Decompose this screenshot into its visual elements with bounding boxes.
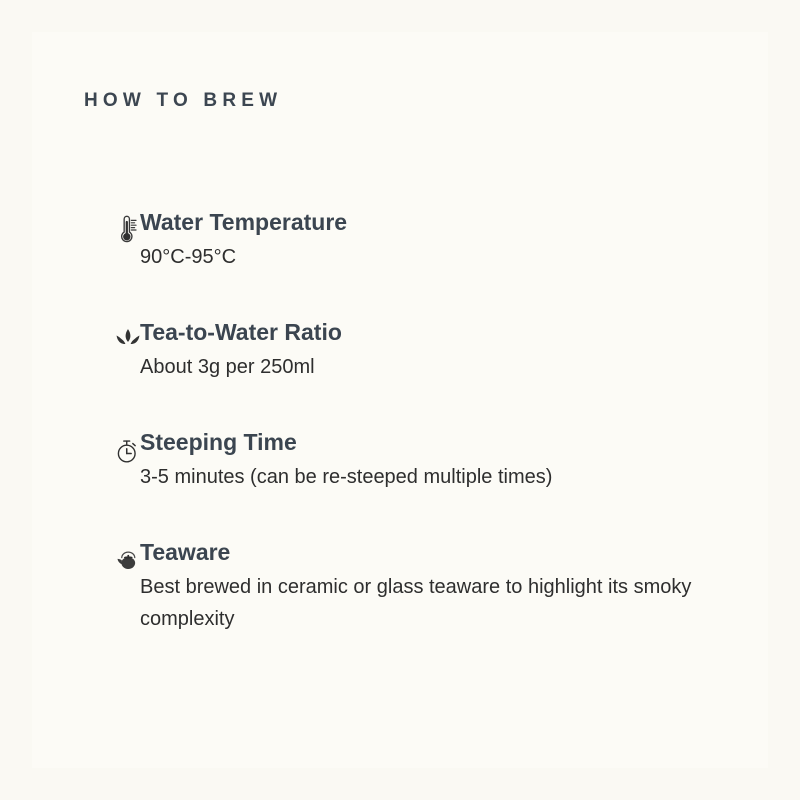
item-text: Water Temperature 90°C-95°C [140, 207, 748, 273]
list-item: Water Temperature 90°C-95°C [76, 207, 748, 273]
page-root: HOW TO BREW [0, 0, 800, 800]
item-title: Steeping Time [140, 427, 748, 457]
teapot-icon [76, 537, 140, 579]
item-description: 90°C-95°C [140, 241, 715, 273]
item-text: Steeping Time 3-5 minutes (can be re-ste… [140, 427, 748, 493]
how-to-brew-card: HOW TO BREW [32, 32, 768, 768]
stopwatch-icon [76, 427, 140, 471]
item-title: Teaware [140, 537, 748, 567]
brew-instructions-list: Water Temperature 90°C-95°C T [76, 207, 748, 635]
page-title: HOW TO BREW [84, 90, 282, 112]
item-text: Teaware Best brewed in ceramic or glass … [140, 537, 748, 635]
list-item: Steeping Time 3-5 minutes (can be re-ste… [76, 427, 748, 493]
item-description: Best brewed in ceramic or glass teaware … [140, 571, 700, 635]
item-title: Tea-to-Water Ratio [140, 317, 748, 347]
thermometer-icon [76, 207, 140, 249]
item-description: About 3g per 250ml [140, 351, 715, 383]
tea-leaves-icon [76, 317, 140, 355]
item-description: 3-5 minutes (can be re-steeped multiple … [140, 461, 740, 493]
item-text: Tea-to-Water Ratio About 3g per 250ml [140, 317, 748, 383]
item-title: Water Temperature [140, 207, 748, 237]
list-item: Tea-to-Water Ratio About 3g per 250ml [76, 317, 748, 383]
list-item: Teaware Best brewed in ceramic or glass … [76, 537, 748, 635]
